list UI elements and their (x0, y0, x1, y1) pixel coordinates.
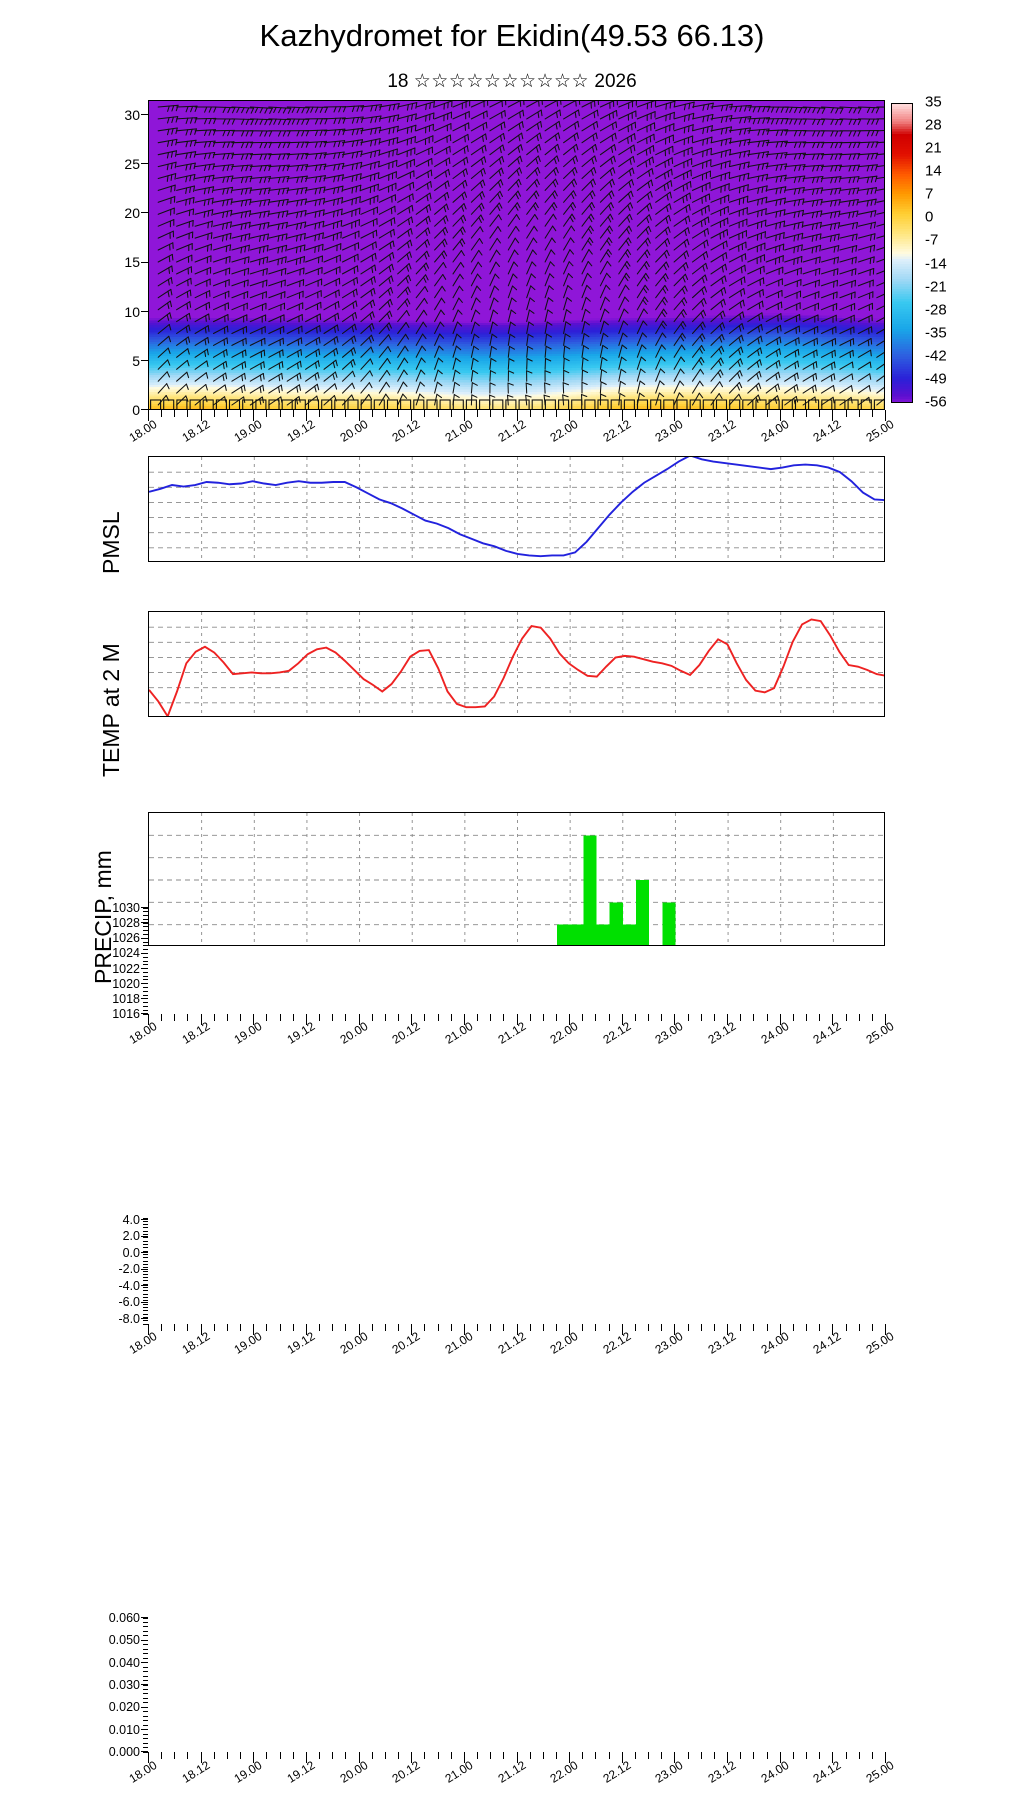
x-tick-mark (767, 1014, 768, 1021)
x-tick-label: 24.00 (741, 417, 791, 455)
temp-axis-label: TEMP at 2 M (98, 643, 125, 777)
x-tick-mark (451, 1752, 452, 1759)
y-tick-mark (141, 360, 148, 361)
x-tick-mark (714, 1324, 715, 1331)
x-tick-mark (767, 1752, 768, 1759)
x-tick-mark (701, 1014, 702, 1021)
x-tick-label: 23.12 (689, 1758, 739, 1796)
x-tick-label: 20.12 (373, 1329, 423, 1367)
x-tick-mark (319, 1752, 320, 1759)
y-tick-label: 1018 (100, 993, 140, 1006)
x-tick-mark (701, 1752, 702, 1759)
y-minor-tick (143, 1002, 148, 1003)
x-tick-mark (240, 410, 241, 417)
x-tick-mark (385, 1014, 386, 1021)
x-tick-mark (174, 1324, 175, 1331)
y-minor-tick (143, 1218, 148, 1219)
precip-panel: PRECIP, mm 0.0000.0100.0200.0300.0400.05… (0, 806, 1024, 956)
colorbar-tick-label: -14 (925, 255, 947, 272)
x-tick-mark (872, 1324, 873, 1331)
x-tick-mark (345, 1324, 346, 1331)
x-tick-mark (740, 1752, 741, 1759)
x-tick-mark (398, 1014, 399, 1021)
x-tick-mark (385, 410, 386, 417)
x-tick-mark (240, 1014, 241, 1021)
x-tick-mark (477, 1014, 478, 1021)
x-tick-mark (266, 1752, 267, 1759)
x-tick-mark (530, 1324, 531, 1331)
y-minor-tick (143, 1317, 148, 1318)
x-tick-mark (530, 1014, 531, 1021)
x-tick-mark (543, 410, 544, 417)
x-tick-mark (187, 1324, 188, 1331)
y-minor-tick (143, 1693, 148, 1694)
x-tick-mark (372, 1014, 373, 1021)
y-tick-label: -8.0 (100, 1313, 140, 1326)
x-tick-mark (451, 410, 452, 417)
x-tick-mark (714, 1752, 715, 1759)
x-tick-mark (582, 1014, 583, 1021)
x-tick-mark (266, 410, 267, 417)
x-tick-mark (648, 410, 649, 417)
y-minor-tick (143, 1680, 148, 1681)
x-tick-label: 21.00 (425, 1019, 475, 1057)
x-tick-label: 19.00 (215, 1329, 265, 1367)
x-tick-label: 19.12 (268, 1329, 318, 1367)
y-minor-tick (143, 964, 148, 965)
y-minor-tick (143, 1224, 148, 1225)
x-tick-mark (174, 1014, 175, 1021)
y-tick-label: 0.040 (92, 1656, 140, 1669)
cross-section-panel: 051015202530 18.0018.1219.0019.1220.0020… (0, 0, 1024, 460)
y-minor-tick (143, 1676, 148, 1677)
x-tick-mark (161, 1752, 162, 1759)
x-tick-mark (451, 1324, 452, 1331)
x-tick-label: 22.00 (531, 1329, 581, 1367)
x-tick-mark (398, 1752, 399, 1759)
x-tick-mark (187, 1752, 188, 1759)
y-minor-tick (143, 1689, 148, 1690)
y-tick-mark (141, 311, 148, 312)
x-tick-label: 23.00 (636, 1758, 686, 1796)
y-tick-mark (141, 1252, 148, 1253)
y-minor-tick (143, 1671, 148, 1672)
x-tick-mark (477, 410, 478, 417)
y-minor-tick (143, 1234, 148, 1235)
y-minor-tick (143, 1231, 148, 1232)
x-tick-mark (438, 1752, 439, 1759)
colorbar-tick-label: 28 (925, 117, 942, 134)
x-tick-mark (609, 410, 610, 417)
x-tick-mark (859, 410, 860, 417)
x-tick-mark (372, 410, 373, 417)
x-tick-mark (424, 410, 425, 417)
temp-plot-area (148, 611, 885, 717)
x-tick-mark (701, 1324, 702, 1331)
x-tick-mark (214, 1324, 215, 1331)
x-tick-mark (582, 1752, 583, 1759)
x-tick-mark (635, 1324, 636, 1331)
x-tick-mark (859, 1324, 860, 1331)
x-tick-mark (872, 1014, 873, 1021)
x-tick-mark (688, 1324, 689, 1331)
x-tick-label: 18.00 (110, 1758, 160, 1796)
y-tick-label: 0.030 (92, 1679, 140, 1692)
temperature-colorbar (891, 103, 913, 403)
x-tick-mark (503, 410, 504, 417)
y-minor-tick (143, 1618, 148, 1619)
y-minor-tick (143, 1261, 148, 1262)
y-tick-mark (141, 1302, 148, 1303)
y-minor-tick (143, 1254, 148, 1255)
y-minor-tick (143, 1227, 148, 1228)
y-minor-tick (143, 1297, 148, 1298)
colorbar-tick-label: -49 (925, 370, 947, 387)
x-tick-mark (214, 410, 215, 417)
x-tick-label: 18.00 (110, 1019, 160, 1057)
y-tick-label: -6.0 (100, 1296, 140, 1309)
x-tick-mark (214, 1014, 215, 1021)
y-minor-tick (143, 1743, 148, 1744)
x-tick-label: 25.00 (847, 417, 897, 455)
y-minor-tick (143, 1241, 148, 1242)
x-tick-label: 21.00 (425, 1758, 475, 1796)
x-tick-mark (490, 1014, 491, 1021)
y-minor-tick (143, 1622, 148, 1623)
x-tick-label: 18.12 (162, 1329, 212, 1367)
x-tick-label: 23.00 (636, 1019, 686, 1057)
y-minor-tick (143, 1290, 148, 1291)
y-minor-tick (143, 976, 148, 977)
y-minor-tick (143, 1310, 148, 1311)
x-tick-mark (767, 410, 768, 417)
x-tick-mark (280, 1014, 281, 1021)
x-tick-mark (345, 1014, 346, 1021)
x-tick-mark (595, 1752, 596, 1759)
y-tick-label: 4.0 (100, 1213, 140, 1226)
y-minor-tick (143, 1277, 148, 1278)
y-tick-mark (141, 1269, 148, 1270)
x-tick-mark (872, 410, 873, 417)
x-tick-mark (280, 1752, 281, 1759)
y-minor-tick (143, 1304, 148, 1305)
y-minor-tick (143, 991, 148, 992)
y-tick-label: 30 (104, 108, 140, 122)
x-tick-mark (846, 410, 847, 417)
precip-plot-area (148, 812, 885, 946)
x-tick-mark (161, 410, 162, 417)
x-tick-label: 22.00 (531, 417, 581, 455)
y-minor-tick (143, 1716, 148, 1717)
x-tick-mark (345, 1752, 346, 1759)
colorbar-tick-label: -56 (925, 394, 947, 411)
x-tick-mark (819, 410, 820, 417)
colorbar-tick-label: -28 (925, 301, 947, 318)
y-tick-label: 0 (104, 403, 140, 417)
x-tick-label: 19.00 (215, 1758, 265, 1796)
x-tick-mark (424, 1014, 425, 1021)
x-tick-mark (543, 1324, 544, 1331)
y-minor-tick (143, 1221, 148, 1222)
y-tick-label: 0.010 (92, 1723, 140, 1736)
y-tick-label: 2.0 (100, 1230, 140, 1243)
x-tick-label: 20.00 (320, 417, 370, 455)
x-tick-label: 23.12 (689, 1019, 739, 1057)
x-tick-label: 20.12 (373, 417, 423, 455)
y-minor-tick (143, 1711, 148, 1712)
x-tick-mark (227, 1752, 228, 1759)
x-tick-mark (793, 410, 794, 417)
y-minor-tick (143, 1300, 148, 1301)
x-tick-mark (438, 1324, 439, 1331)
x-tick-label: 19.00 (215, 417, 265, 455)
x-tick-mark (767, 1324, 768, 1331)
y-tick-label: 10 (104, 305, 140, 319)
x-tick-mark (846, 1324, 847, 1331)
x-tick-mark (595, 410, 596, 417)
y-tick-label: 15 (104, 255, 140, 269)
x-tick-mark (332, 1014, 333, 1021)
y-tick-mark (141, 262, 148, 263)
y-minor-tick (143, 1725, 148, 1726)
x-tick-mark (477, 1324, 478, 1331)
x-tick-mark (846, 1014, 847, 1021)
colorbar-tick-label: 21 (925, 140, 942, 157)
x-tick-mark (806, 1752, 807, 1759)
x-tick-mark (648, 1014, 649, 1021)
x-tick-mark (319, 1014, 320, 1021)
x-tick-mark (530, 410, 531, 417)
colorbar-tick-label: -7 (925, 232, 938, 249)
x-tick-mark (556, 1324, 557, 1331)
y-minor-tick (143, 1274, 148, 1275)
x-tick-mark (556, 1752, 557, 1759)
x-tick-label: 24.12 (794, 1019, 844, 1057)
x-tick-label: 24.00 (741, 1758, 791, 1796)
x-tick-mark (398, 410, 399, 417)
x-tick-mark (227, 410, 228, 417)
y-tick-mark (141, 409, 148, 410)
colorbar-tick-label: 35 (925, 94, 942, 111)
y-tick-label: 5 (104, 354, 140, 368)
x-tick-label: 21.00 (425, 1329, 475, 1367)
x-tick-label: 18.12 (162, 1758, 212, 1796)
y-minor-tick (143, 1294, 148, 1295)
x-tick-label: 18.00 (110, 417, 160, 455)
x-tick-mark (701, 410, 702, 417)
x-tick-label: 23.12 (689, 1329, 739, 1367)
y-tick-mark (141, 163, 148, 164)
x-tick-mark (661, 1324, 662, 1331)
x-tick-mark (503, 1014, 504, 1021)
x-tick-mark (161, 1014, 162, 1021)
x-tick-label: 21.12 (478, 1019, 528, 1057)
colorbar-tick-label: -21 (925, 278, 947, 295)
x-tick-mark (793, 1324, 794, 1331)
y-minor-tick (143, 1280, 148, 1281)
x-tick-label: 23.12 (689, 417, 739, 455)
x-tick-mark (661, 1014, 662, 1021)
x-tick-label: 24.12 (794, 1758, 844, 1796)
x-tick-label: 20.12 (373, 1019, 423, 1057)
y-minor-tick (143, 1649, 148, 1650)
x-tick-label: 24.00 (741, 1329, 791, 1367)
x-tick-mark (635, 410, 636, 417)
x-tick-mark (688, 410, 689, 417)
y-tick-label: 20 (104, 206, 140, 220)
x-tick-label: 24.12 (794, 1329, 844, 1367)
x-tick-mark (806, 410, 807, 417)
y-tick-mark (141, 1236, 148, 1237)
y-minor-tick (143, 1010, 148, 1011)
colorbar-tick-label: 14 (925, 163, 942, 180)
x-tick-mark (543, 1014, 544, 1021)
y-tick-label: 25 (104, 157, 140, 171)
x-tick-label: 22.12 (583, 1329, 633, 1367)
x-tick-mark (319, 1324, 320, 1331)
x-tick-mark (345, 410, 346, 417)
y-tick-label: -4.0 (100, 1280, 140, 1293)
x-tick-mark (635, 1014, 636, 1021)
y-minor-tick (143, 1734, 148, 1735)
x-tick-mark (227, 1324, 228, 1331)
y-minor-tick (143, 1631, 148, 1632)
y-minor-tick (143, 1287, 148, 1288)
colorbar-gradient (892, 104, 913, 403)
y-tick-label: 0.060 (92, 1612, 140, 1625)
x-tick-label: 18.00 (110, 1329, 160, 1367)
y-minor-tick (143, 1237, 148, 1238)
x-tick-mark (293, 410, 294, 417)
x-tick-mark (714, 1014, 715, 1021)
x-tick-mark (530, 1752, 531, 1759)
colorbar-tick-label: -35 (925, 324, 947, 341)
y-minor-tick (143, 1658, 148, 1659)
x-tick-mark (187, 1014, 188, 1021)
y-minor-tick (143, 1267, 148, 1268)
x-tick-label: 18.12 (162, 417, 212, 455)
colorbar-tick-label: 0 (925, 209, 933, 226)
x-tick-mark (280, 1324, 281, 1331)
x-tick-mark (438, 410, 439, 417)
y-minor-tick (143, 1702, 148, 1703)
cross-section-field (149, 101, 885, 410)
y-minor-tick (143, 1244, 148, 1245)
y-tick-label: 0.020 (92, 1701, 140, 1714)
y-tick-label: 0.0 (100, 1247, 140, 1260)
x-tick-mark (503, 1324, 504, 1331)
y-tick-label: 0.050 (92, 1634, 140, 1647)
x-tick-label: 19.12 (268, 1758, 318, 1796)
y-minor-tick (143, 1626, 148, 1627)
x-tick-mark (753, 1014, 754, 1021)
x-tick-mark (161, 1324, 162, 1331)
x-tick-mark (490, 1752, 491, 1759)
y-minor-tick (143, 1729, 148, 1730)
x-tick-mark (266, 1014, 267, 1021)
y-minor-tick (143, 1720, 148, 1721)
x-tick-mark (293, 1014, 294, 1021)
x-tick-label: 21.12 (478, 417, 528, 455)
y-minor-tick (143, 1247, 148, 1248)
x-tick-mark (740, 410, 741, 417)
x-tick-mark (846, 1752, 847, 1759)
y-minor-tick (143, 1284, 148, 1285)
x-tick-mark (543, 1752, 544, 1759)
y-minor-tick (143, 998, 148, 999)
x-tick-mark (595, 1324, 596, 1331)
pmsl-series (149, 457, 885, 562)
x-tick-mark (280, 410, 281, 417)
x-tick-mark (556, 1014, 557, 1021)
x-tick-mark (424, 1752, 425, 1759)
y-minor-tick (143, 1307, 148, 1308)
x-tick-label: 25.00 (847, 1758, 897, 1796)
y-tick-label: -2.0 (100, 1263, 140, 1276)
x-tick-mark (174, 1752, 175, 1759)
x-tick-mark (740, 1014, 741, 1021)
precip-series (149, 813, 885, 946)
x-tick-mark (372, 1752, 373, 1759)
x-tick-label: 22.12 (583, 417, 633, 455)
y-minor-tick (143, 1257, 148, 1258)
y-minor-tick (143, 1738, 148, 1739)
x-tick-mark (661, 1752, 662, 1759)
x-tick-mark (661, 410, 662, 417)
y-minor-tick (143, 1251, 148, 1252)
x-tick-mark (648, 1324, 649, 1331)
pmsl-panel: PMSL 10161018102010221024102610281030 18… (0, 452, 1024, 582)
x-tick-mark (187, 410, 188, 417)
x-tick-mark (556, 410, 557, 417)
x-tick-mark (753, 410, 754, 417)
colorbar-tick-label: -42 (925, 347, 947, 364)
x-tick-label: 21.12 (478, 1758, 528, 1796)
x-tick-label: 19.00 (215, 1019, 265, 1057)
x-tick-mark (214, 1752, 215, 1759)
y-tick-mark (141, 1219, 148, 1220)
x-tick-mark (490, 1324, 491, 1331)
x-tick-mark (793, 1014, 794, 1021)
x-tick-mark (240, 1752, 241, 1759)
y-tick-mark (141, 114, 148, 115)
cross-section-plot-area (148, 100, 885, 410)
x-tick-label: 23.00 (636, 1329, 686, 1367)
x-tick-mark (582, 410, 583, 417)
y-minor-tick (143, 1667, 148, 1668)
y-tick-mark (141, 1285, 148, 1286)
y-minor-tick (143, 961, 148, 962)
x-tick-mark (819, 1014, 820, 1021)
x-tick-mark (635, 1752, 636, 1759)
x-tick-label: 19.12 (268, 1019, 318, 1057)
y-minor-tick (143, 1707, 148, 1708)
x-tick-label: 18.12 (162, 1019, 212, 1057)
y-tick-label: 0.000 (92, 1746, 140, 1759)
x-tick-mark (819, 1752, 820, 1759)
x-tick-label: 23.00 (636, 417, 686, 455)
colorbar-tick-label: 7 (925, 186, 933, 203)
x-tick-mark (793, 1752, 794, 1759)
x-tick-mark (648, 1752, 649, 1759)
x-tick-mark (753, 1324, 754, 1331)
x-tick-mark (174, 410, 175, 417)
y-tick-label: 1016 (100, 1008, 140, 1021)
x-tick-mark (753, 1752, 754, 1759)
x-tick-mark (424, 1324, 425, 1331)
x-tick-label: 21.00 (425, 417, 475, 455)
pmsl-plot-area (148, 456, 885, 562)
